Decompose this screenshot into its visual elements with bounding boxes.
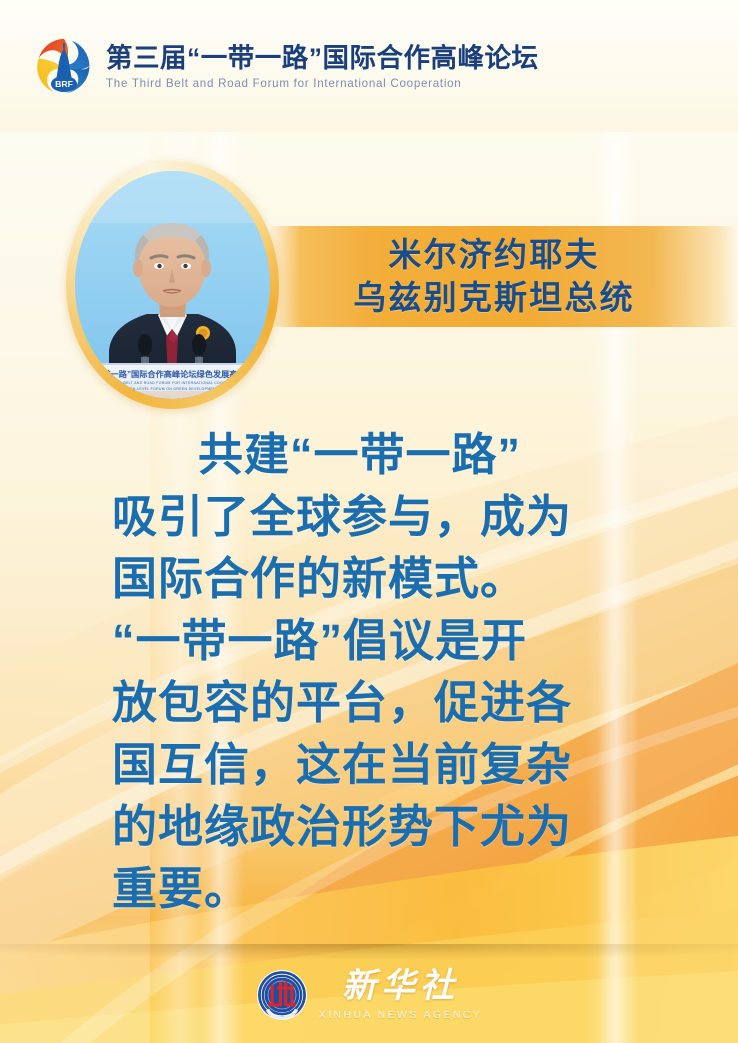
poster-footer: XINHUA 新华社 XINHUA NEWS AGENCY	[0, 947, 738, 1043]
header-title-en: The Third Belt and Road Forum for Intern…	[106, 77, 539, 90]
brf-logo-icon: BRF	[33, 35, 95, 97]
xinhua-emblem-icon: XINHUA	[256, 969, 308, 1021]
quote-line: 国互信，这在当前复杂	[112, 734, 620, 796]
agency-name-en: XINHUA NEWS AGENCY	[319, 1009, 482, 1021]
speaker-name-block: 米尔济约耶夫 乌兹别克斯坦总统	[268, 226, 720, 327]
speaker-portrait: 届“一带一路”国际合作高峰论坛绿色发展高级别论 THE THIRD BELT A…	[66, 161, 279, 409]
portrait-photo: 届“一带一路”国际合作高峰论坛绿色发展高级别论 THE THIRD BELT A…	[75, 171, 270, 399]
quote-line: 吸引了全球参与，成为	[112, 486, 620, 548]
portrait-photo-clip: 届“一带一路”国际合作高峰论坛绿色发展高级别论 THE THIRD BELT A…	[75, 171, 270, 399]
speaker-title: 乌兹别克斯坦总统	[353, 279, 635, 318]
quote-line: 国际合作的新模式。	[112, 548, 620, 610]
poster-canvas: BRF 第三届“一带一路”国际合作高峰论坛 The Third Belt and…	[0, 0, 738, 1043]
brf-logo-wordmark: BRF	[55, 79, 73, 89]
header-title-cn: 第三届“一带一路”国际合作高峰论坛	[106, 44, 539, 74]
speaker-name: 米尔济约耶夫	[388, 236, 599, 275]
quote-line: 重要。	[112, 858, 620, 920]
quote-block: 共建“一带一路” 吸引了全球参与，成为 国际合作的新模式。 “一带一路”倡议是开…	[112, 424, 620, 920]
quote-line: 共建“一带一路”	[112, 424, 620, 486]
xinhua-text-block: 新华社 XINHUA NEWS AGENCY	[319, 970, 482, 1021]
xinhua-emblem-wordmark: XINHUA	[273, 1009, 290, 1013]
podium-banner-en-1: THE THIRD BELT AND ROAD FORUM FOR INTERN…	[101, 381, 243, 385]
poster-header: BRF 第三届“一带一路”国际合作高峰论坛 The Third Belt and…	[0, 0, 738, 132]
agency-name-cn: 新华社	[342, 970, 459, 1004]
podium-banner-en-2: HIGH-LEVEL FORUM ON GREEN DEVELOPMENT	[126, 387, 219, 391]
quote-line: 的地缘政治形势下尤为	[112, 796, 620, 858]
quote-line: 放包容的平台，促进各	[112, 672, 620, 734]
header-text-block: 第三届“一带一路”国际合作高峰论坛 The Third Belt and Roa…	[106, 42, 539, 91]
quote-line: “一带一路”倡议是开	[112, 610, 620, 672]
podium-banner-cn: 届“一带一路”国际合作高峰论坛绿色发展高级别论	[82, 369, 263, 379]
